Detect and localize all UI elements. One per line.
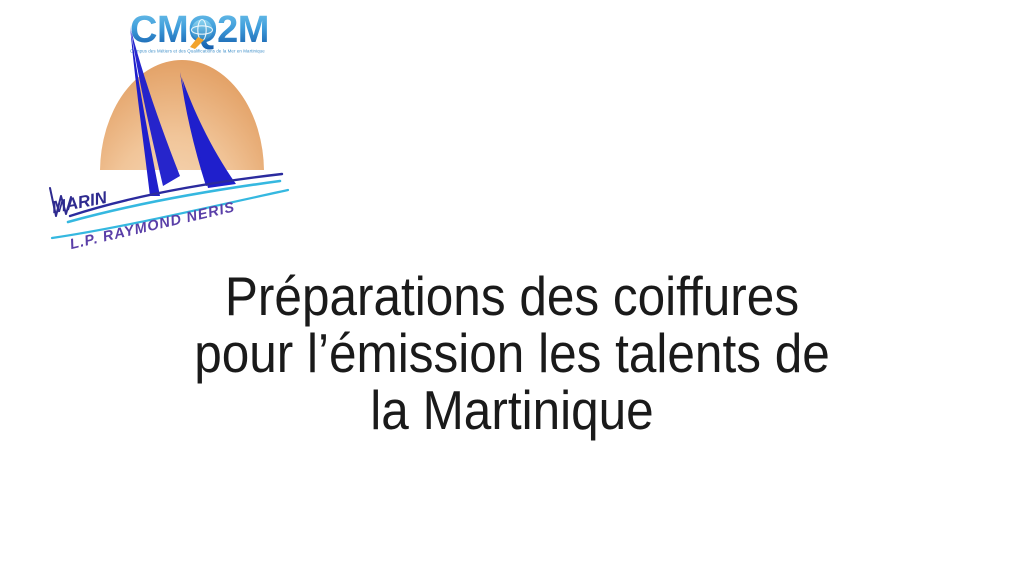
- title-line-3: la Martinique: [114, 382, 910, 439]
- logo: CMQ2M Campus des Métiers et des Qualific…: [30, 0, 330, 255]
- logo-svg: CMQ2M Campus des Métiers et des Qualific…: [30, 0, 330, 255]
- presentation-slide: CMQ2M Campus des Métiers et des Qualific…: [0, 0, 1024, 576]
- title-line-2: pour l’émission les talents de: [114, 325, 910, 382]
- title-line-1: Préparations des coiffures: [114, 268, 910, 325]
- cmq2m-tagline: Campus des Métiers et des Qualifications…: [130, 49, 265, 54]
- globe-sphere: [192, 20, 213, 41]
- cmq2m-wordmark: CMQ2M Campus des Métiers et des Qualific…: [130, 9, 269, 54]
- slide-title: Préparations des coiffures pour l’émissi…: [70, 268, 954, 439]
